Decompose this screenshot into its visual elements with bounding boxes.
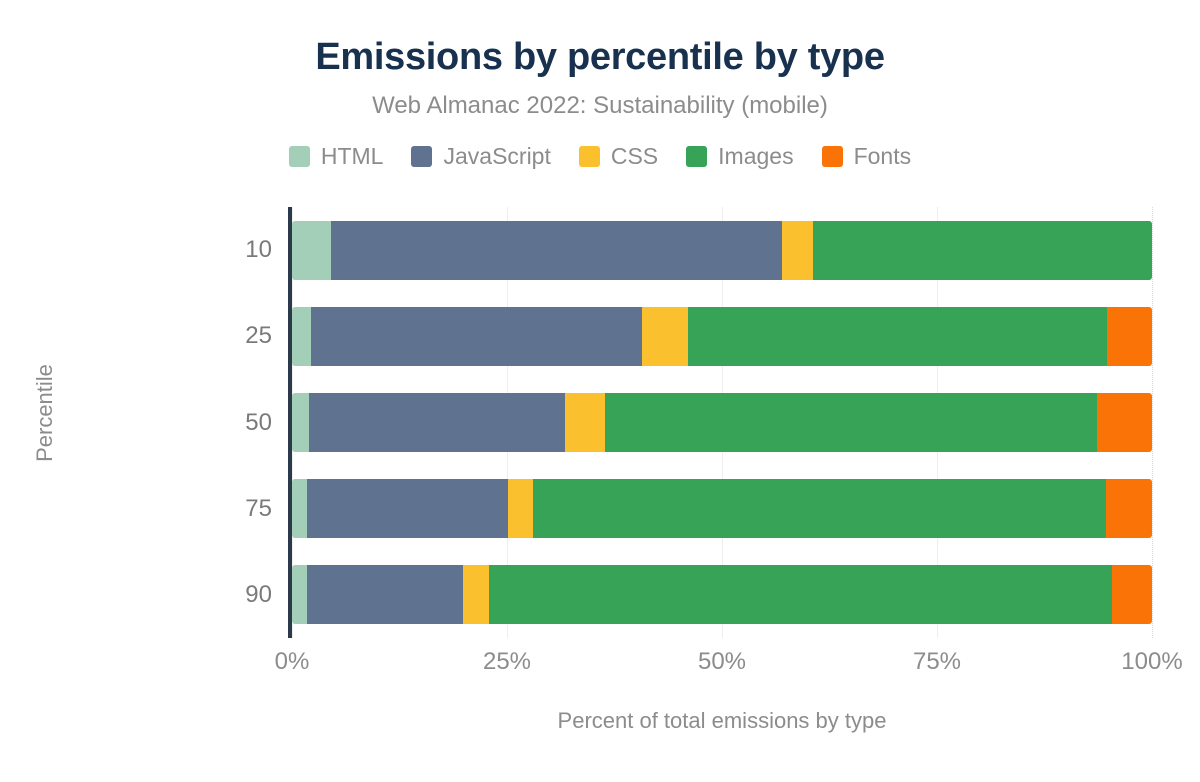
legend-item-images[interactable]: Images [686,143,793,170]
emissions-stacked-bar-chart: Emissions by percentile by type Web Alma… [0,0,1200,782]
y-tick-label-10: 10 [212,238,272,262]
bar-segment-css[interactable] [565,393,605,452]
y-tick-label-90: 90 [212,583,272,607]
bar-segment-javascript[interactable] [307,565,464,624]
bar-row-p50 [292,393,1152,452]
x-tick-label-0: 0% [275,648,310,676]
bar-segment-html[interactable] [292,565,307,624]
chart-legend: HTMLJavaScriptCSSImagesFonts [0,143,1200,170]
legend-label: HTML [321,143,384,170]
legend-item-css[interactable]: CSS [579,143,658,170]
stacked-bar [292,221,1152,280]
bar-segment-images[interactable] [605,393,1097,452]
stacked-bar [292,565,1152,624]
bar-segment-css[interactable] [463,565,489,624]
y-axis-tick-labels: 1025507590 [212,207,272,638]
x-tick-label-25: 25% [483,648,531,676]
bar-row-p90 [292,565,1152,624]
chart-title: Emissions by percentile by type [0,36,1200,79]
bar-segment-html[interactable] [292,479,307,538]
y-tick-label-75: 75 [212,497,272,521]
bar-segment-html[interactable] [292,393,309,452]
legend-swatch-css [579,146,600,167]
bar-segment-javascript[interactable] [309,393,564,452]
bar-segment-images[interactable] [688,307,1108,366]
legend-item-html[interactable]: HTML [289,143,384,170]
bar-series-group [292,207,1152,638]
bar-segment-fonts[interactable] [1106,479,1152,538]
x-tick-label-50: 50% [698,648,746,676]
y-axis-title: Percentile [32,343,58,483]
legend-label: Images [718,143,793,170]
legend-swatch-images [686,146,707,167]
x-tick-label-100: 100% [1121,648,1182,676]
bar-segment-fonts[interactable] [1112,565,1152,624]
y-tick-label-50: 50 [212,411,272,435]
bar-segment-javascript[interactable] [307,479,508,538]
x-axis-tick-labels: 0%25%50%75%100% [292,648,1152,688]
legend-item-fonts[interactable]: Fonts [822,143,912,170]
bar-row-p25 [292,307,1152,366]
bar-segment-html[interactable] [292,307,311,366]
legend-label: Fonts [854,143,912,170]
legend-item-javascript[interactable]: JavaScript [411,143,550,170]
stacked-bar [292,393,1152,452]
legend-swatch-javascript [411,146,432,167]
bar-segment-css[interactable] [508,479,533,538]
bar-row-p10 [292,221,1152,280]
stacked-bar [292,307,1152,366]
y-tick-label-25: 25 [212,324,272,348]
x-tick-label-75: 75% [913,648,961,676]
bar-segment-images[interactable] [489,565,1112,624]
bar-segment-images[interactable] [533,479,1106,538]
legend-swatch-html [289,146,310,167]
bar-segment-fonts[interactable] [1097,393,1152,452]
chart-subtitle: Web Almanac 2022: Sustainability (mobile… [0,92,1200,120]
plot-area [292,207,1152,638]
bar-segment-css[interactable] [642,307,688,366]
legend-label: JavaScript [443,143,550,170]
legend-label: CSS [611,143,658,170]
gridline-100 [1152,207,1154,638]
bar-segment-html[interactable] [292,221,331,280]
stacked-bar [292,479,1152,538]
bar-segment-javascript[interactable] [311,307,642,366]
legend-swatch-fonts [822,146,843,167]
bar-segment-fonts[interactable] [1107,307,1152,366]
bar-row-p75 [292,479,1152,538]
bar-segment-javascript[interactable] [331,221,783,280]
bar-segment-images[interactable] [813,221,1152,280]
bar-segment-css[interactable] [782,221,813,280]
x-axis-title: Percent of total emissions by type [292,708,1152,734]
